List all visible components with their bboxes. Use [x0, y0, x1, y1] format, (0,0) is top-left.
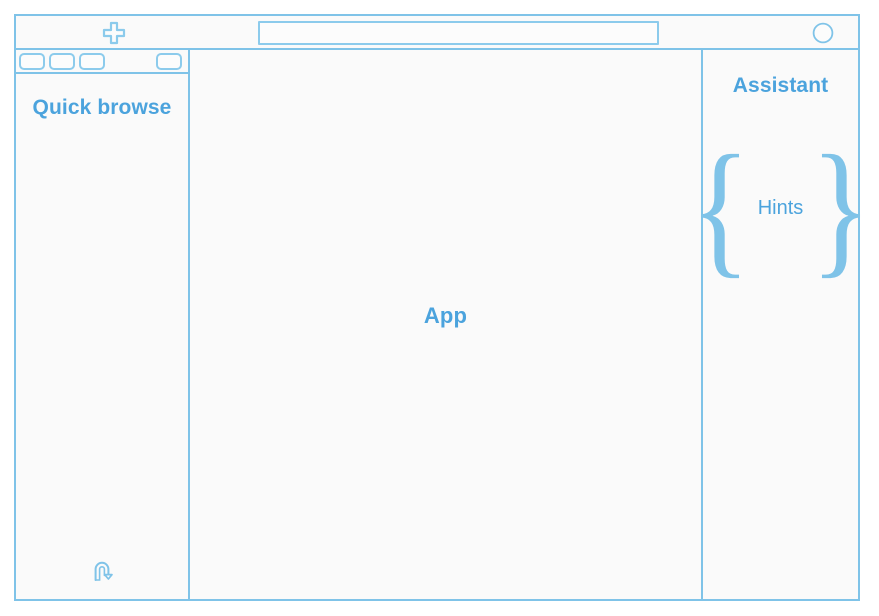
sidebar-tab-2[interactable] [49, 53, 75, 70]
add-button[interactable] [100, 19, 128, 47]
app-canvas[interactable]: App [190, 50, 703, 599]
sidebar-footer [16, 547, 188, 599]
top-bar [16, 16, 858, 50]
right-brace-icon: } [811, 150, 872, 267]
sidebar-tab-options[interactable] [156, 53, 182, 70]
sidebar-tab-3[interactable] [79, 53, 105, 70]
assistant-title: Assistant [733, 74, 828, 98]
window-body: Quick browse App Assistant [16, 50, 858, 599]
search-input[interactable] [260, 23, 657, 43]
u-turn-arrow-icon [88, 557, 116, 585]
search-input-wrapper[interactable] [258, 21, 659, 45]
left-sidebar: Quick browse [16, 50, 190, 599]
hints-group: { Hints } [684, 150, 878, 267]
circle-avatar-icon [812, 22, 834, 44]
sidebar-tab-bar [16, 50, 188, 74]
avatar[interactable] [812, 22, 834, 44]
sidebar-content: Quick browse [16, 74, 188, 599]
assistant-panel: Assistant { Hints } [703, 50, 858, 599]
quick-browse-title: Quick browse [16, 94, 188, 122]
plus-icon [101, 20, 127, 46]
hints-label: Hints [758, 197, 804, 220]
wireframe-window: Quick browse App Assistant [14, 14, 860, 601]
app-label: App [424, 303, 467, 329]
u-turn-button[interactable] [85, 555, 119, 587]
sidebar-tab-1[interactable] [19, 53, 45, 70]
left-brace-icon: { [689, 150, 750, 267]
